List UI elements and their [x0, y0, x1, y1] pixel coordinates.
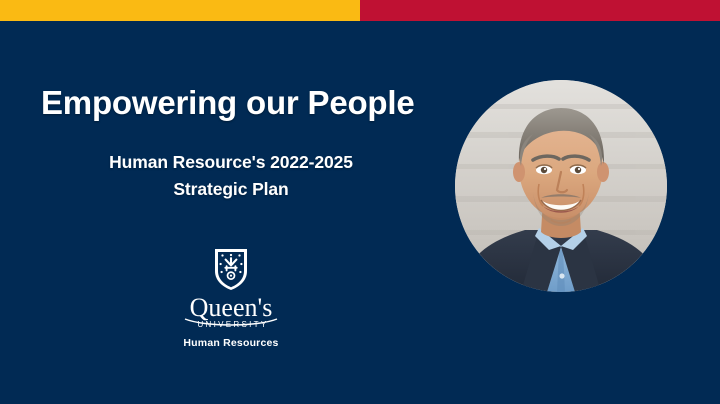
portrait-photo: [455, 80, 667, 292]
slide-title: Empowering our People: [41, 84, 415, 122]
accent-bar-red-segment: [360, 0, 720, 21]
slide-subtitle-line-2: Strategic Plan: [41, 176, 421, 203]
accent-bar-gold-segment: [0, 0, 360, 21]
top-accent-bar: [0, 0, 720, 21]
queens-university-logo: Queen's UNIVERSITY Human Resources: [151, 247, 311, 349]
svg-text:UNIVERSITY: UNIVERSITY: [197, 320, 268, 329]
slide-body: Empowering our People Human Resource's 2…: [0, 21, 720, 404]
slide-subtitle-line-1: Human Resource's 2022-2025: [41, 149, 421, 176]
queens-wordmark: Queen's UNIVERSITY: [171, 293, 291, 329]
department-label: Human Resources: [151, 337, 311, 349]
portrait-illustration: [455, 80, 667, 292]
presentation-slide: Empowering our People Human Resource's 2…: [0, 0, 720, 404]
slide-subtitle: Human Resource's 2022-2025 Strategic Pla…: [41, 149, 421, 202]
svg-text:Queen's: Queen's: [190, 293, 273, 322]
shield-crest-icon: [213, 247, 249, 291]
